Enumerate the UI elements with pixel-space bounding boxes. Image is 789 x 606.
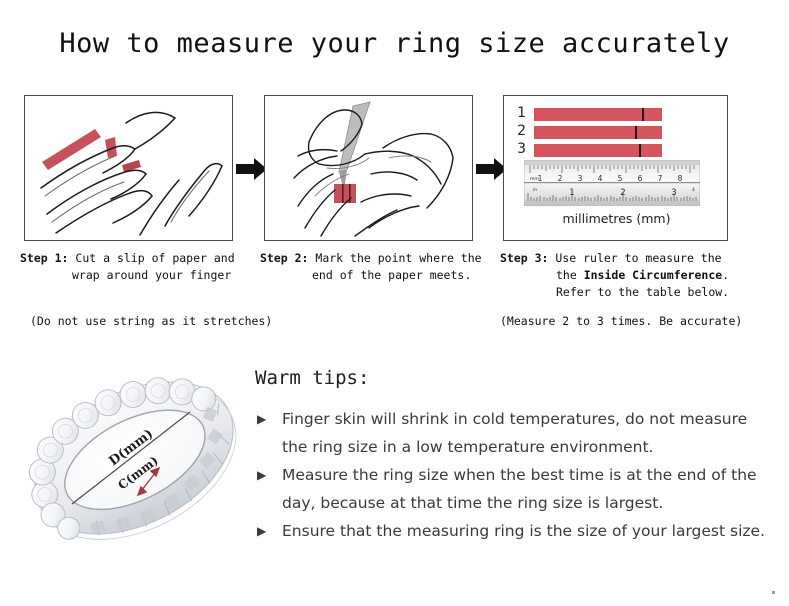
ring-diagram-illustration: D(mm) C(mm) (18, 348, 250, 570)
measure-strip-2-mark (635, 126, 637, 139)
step-1-number: Step 1: (20, 251, 68, 265)
svg-text:2: 2 (558, 174, 563, 183)
step-1-line-1: Cut a slip of paper and (75, 251, 234, 265)
warm-tip-text: Finger skin will shrink in cold temperat… (282, 410, 747, 456)
step-1-panel (24, 95, 233, 241)
measure-strip-2-label: 2 (512, 123, 526, 139)
step-2-line-2: end of the paper meets. (260, 267, 496, 284)
svg-text:3: 3 (578, 174, 583, 183)
page-title: How to measure your ring size accurately (0, 28, 789, 59)
step-3-number: Step 3: (500, 251, 548, 265)
svg-text:4: 4 (692, 187, 695, 193)
step-3-note: (Measure 2 to 3 times. Be accurate) (500, 314, 742, 328)
step-3-line-3: Refer to the table below. (500, 284, 765, 301)
step-1-note: (Do not use string as it stretches) (30, 314, 272, 328)
step-1-caption: Step 1: Cut a slip of paper and wrap aro… (20, 250, 252, 284)
list-item: ▶ Measure the ring size when the best ti… (255, 461, 775, 517)
list-item: ▶ Ensure that the measuring ring is the … (255, 517, 775, 545)
step-3-panel: 1 2 3 (503, 95, 728, 241)
svg-text:mm: mm (530, 177, 539, 182)
step-2-line-1: Mark the point where the (315, 251, 481, 265)
ruler-illustration: 1 2 3 4 5 6 7 8 mm 1 2 3 in 4 (524, 160, 700, 206)
list-item: ▶ Finger skin will shrink in cold temper… (255, 405, 775, 461)
step-3-line-1: Use ruler to measure the (555, 251, 721, 265)
measure-strip-3-bar (534, 144, 662, 157)
triangle-bullet-icon: ▶ (257, 405, 266, 433)
step-2-number: Step 2: (260, 251, 308, 265)
measure-strip-3-mark (639, 144, 641, 157)
step-3-caption: Step 3: Use ruler to measure the the Ins… (500, 250, 765, 301)
triangle-bullet-icon: ▶ (257, 461, 266, 489)
triangle-bullet-icon: ▶ (257, 517, 266, 545)
warm-tip-text: Ensure that the measuring ring is the si… (282, 522, 765, 540)
measure-strip-1-label: 1 (512, 105, 526, 121)
measure-strip-3-label: 3 (512, 141, 526, 157)
warm-tips-list: ▶ Finger skin will shrink in cold temper… (255, 405, 775, 545)
step-3-line-2-prefix: the (556, 268, 584, 282)
warm-tips-heading: Warm tips: (255, 367, 369, 389)
hand-with-paper-slip-illustration (25, 96, 232, 240)
svg-text:7: 7 (658, 174, 663, 183)
measure-strip-2-bar (534, 126, 662, 139)
svg-text:4: 4 (598, 174, 603, 183)
step-3-line-2-suffix: . (722, 268, 729, 282)
step-3-line-2: the Inside Circumference. (500, 267, 765, 284)
step-2-panel (264, 95, 473, 241)
step-1-line-2: wrap around your finger (20, 267, 252, 284)
step-2-caption: Step 2: Mark the point where the end of … (260, 250, 496, 284)
corner-artifact-mark (772, 591, 775, 594)
ruler-unit-label: millimetres (mm) (504, 211, 728, 226)
measure-strip-1-mark (642, 108, 644, 121)
svg-text:6: 6 (638, 174, 643, 183)
svg-text:5: 5 (618, 174, 623, 183)
hand-marking-paper-with-pen-illustration (265, 96, 472, 240)
step-3-inside-circumference-emphasis: Inside Circumference (584, 268, 722, 282)
svg-text:8: 8 (678, 174, 683, 183)
svg-text:in: in (533, 187, 537, 193)
warm-tip-text: Measure the ring size when the best time… (282, 466, 757, 512)
right-arrow-icon (236, 158, 267, 180)
